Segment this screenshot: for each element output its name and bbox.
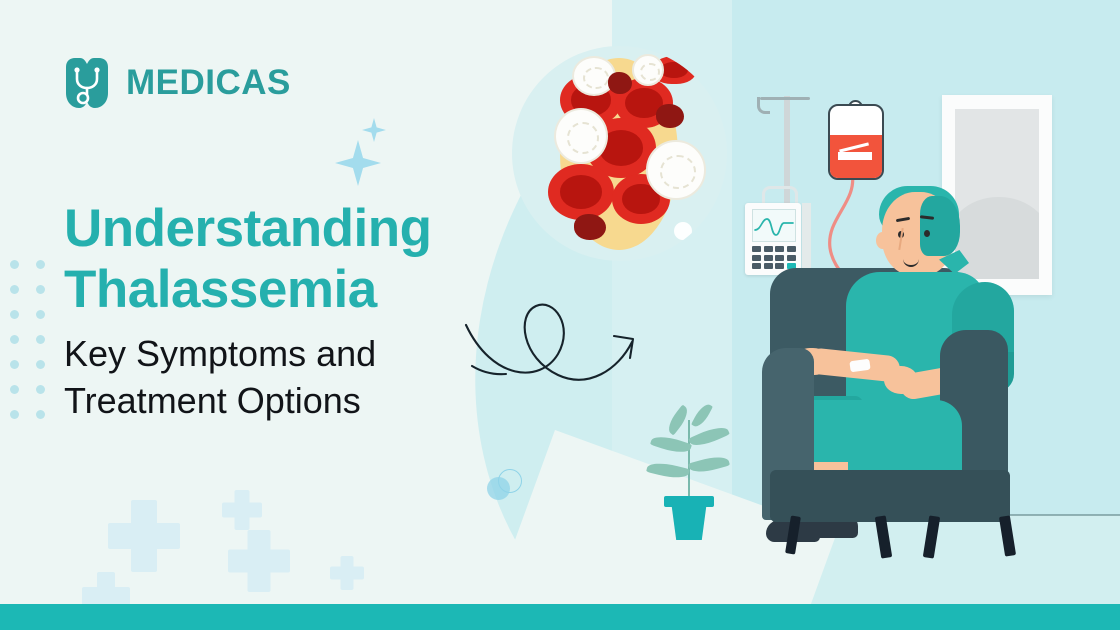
white-blood-cell: [646, 140, 706, 200]
subheadline-line-1: Key Symptoms and: [64, 330, 494, 377]
plant-leaf: [646, 459, 690, 482]
patient-hand-right: [884, 366, 918, 394]
bottom-accent-bar: [0, 604, 1120, 630]
bubble-decoration: [692, 240, 704, 252]
monitor-screen: [752, 209, 796, 242]
subheadline: Key Symptoms and Treatment Options: [64, 330, 494, 424]
frame-artwork: [955, 109, 1039, 279]
eye-right: [924, 230, 930, 237]
blood-bag: [828, 104, 884, 180]
platelet: [608, 72, 632, 94]
headline: Understanding Thalassemia: [64, 198, 524, 320]
plant-leaf: [688, 422, 730, 450]
white-blood-cell: [632, 54, 664, 86]
monitor-keypad[interactable]: [752, 246, 796, 269]
red-blood-cell: [548, 164, 614, 220]
bubble-decoration: [498, 469, 522, 493]
bubble-decoration: [674, 222, 692, 240]
blood-bag-label: [838, 152, 872, 160]
platelet: [656, 104, 684, 128]
iv-pole-hook-end: [757, 97, 770, 114]
medical-cross-icon: [330, 556, 364, 590]
plant-leaf: [650, 432, 692, 457]
white-blood-cell: [554, 108, 608, 164]
headline-line-1: Understanding: [64, 198, 524, 259]
vital-signs-monitor: [745, 203, 801, 275]
subheadline-line-2: Treatment Options: [64, 377, 494, 424]
ecg-waveform-icon: [753, 210, 795, 241]
platelet: [574, 214, 606, 240]
medical-cross-icon: [108, 500, 180, 572]
armchair-seat: [770, 470, 1010, 522]
bubble-decoration: [704, 254, 713, 261]
medical-cross-icon: [228, 530, 290, 592]
blood-cells-illustration: [512, 46, 727, 261]
brand-name: MEDICAS: [126, 63, 291, 103]
headline-line-2: Thalassemia: [64, 259, 377, 320]
brand-logo[interactable]: MEDICAS: [62, 57, 291, 109]
plant-pot: [669, 504, 709, 540]
dot-grid-decoration: [10, 252, 62, 427]
potted-plant: [645, 408, 731, 540]
banner: MEDICAS Understanding Thalassemia Key Sy…: [0, 0, 1120, 630]
medicas-logo-icon: [62, 57, 112, 109]
medical-cross-icon: [222, 490, 262, 530]
monitor-side-panel: [802, 203, 811, 275]
plant-leaf: [688, 453, 730, 477]
headscarf-band: [920, 196, 960, 256]
